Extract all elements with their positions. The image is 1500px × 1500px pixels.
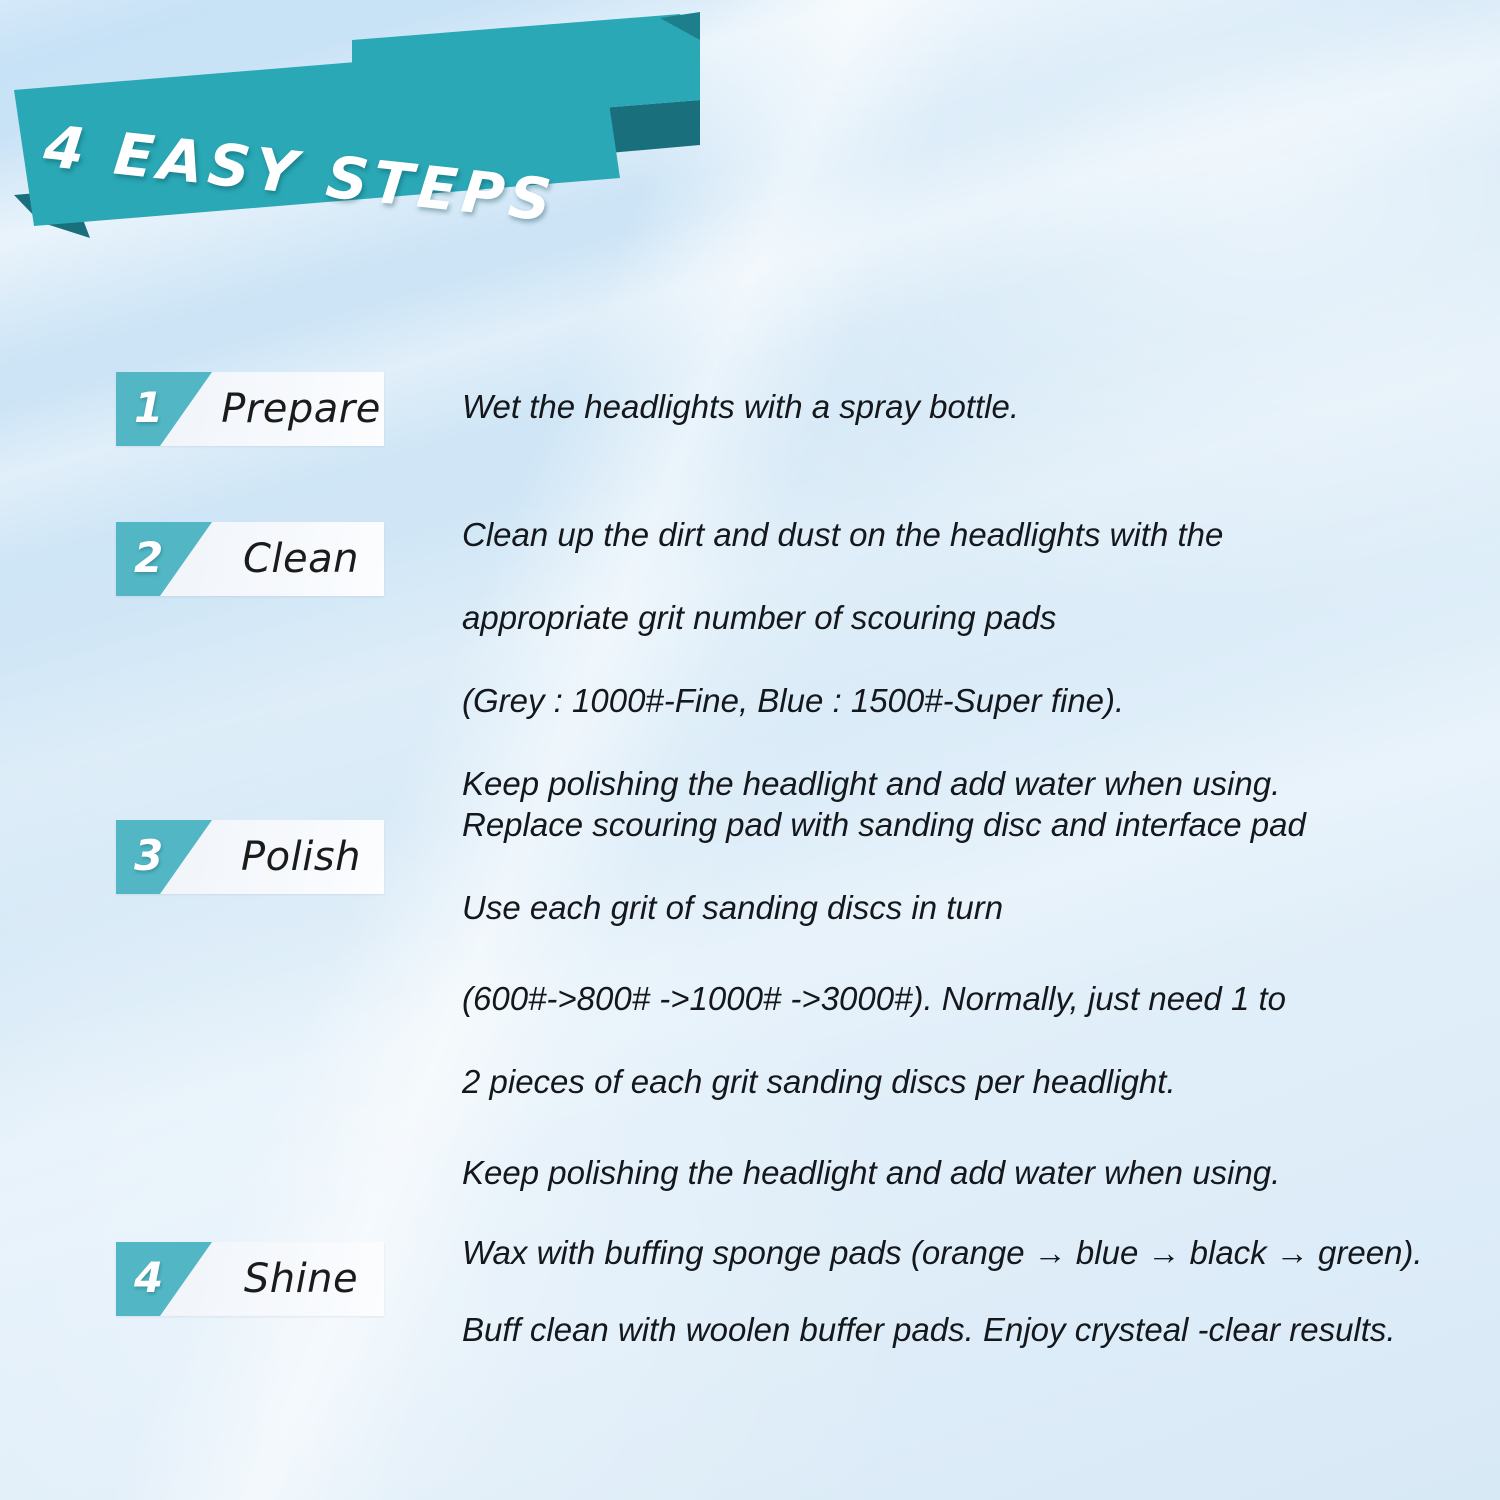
step-body-line: 2 pieces of each grit sanding discs per …	[462, 1065, 1462, 1098]
step-label-box-2[interactable]: 2 Clean	[116, 522, 384, 596]
step-number-shape-4	[116, 1242, 216, 1316]
step-number-3: 3	[134, 835, 163, 877]
step-body-line: Replace scouring pad with sanding disc a…	[462, 808, 1462, 841]
step-body-line: Clean up the dirt and dust on the headli…	[462, 518, 1462, 551]
step-body-4: Wax with buffing sponge pads (orange → b…	[462, 1236, 1462, 1346]
steps-list: 1 Prepare Wet the headlights with a spra…	[0, 0, 1500, 1500]
step-number-4: 4	[134, 1257, 163, 1299]
step-body-line: Wet the headlights with a spray bottle.	[462, 390, 1462, 423]
infographic-poster: 4 EASY STEPS 1 Prepare Wet the headlight…	[0, 0, 1500, 1500]
step-number-1: 1	[134, 387, 163, 429]
step-number-shape-1	[116, 372, 216, 446]
step-body-line: appropriate grit number of scouring pads	[462, 601, 1462, 634]
step-body-line: (Grey : 1000#-Fine, Blue : 1500#-Super f…	[462, 684, 1462, 717]
step-number-shape-2	[116, 522, 216, 596]
step-body-3: Replace scouring pad with sanding disc a…	[462, 808, 1462, 1189]
step-number-badge-1: 1	[116, 372, 216, 446]
step-number-badge-2: 2	[116, 522, 216, 596]
step-label-2: Clean	[216, 522, 376, 596]
step-number-2: 2	[134, 537, 163, 579]
step-number-badge-4: 4	[116, 1242, 216, 1316]
step-body-line: (600#->800# ->1000# ->3000#). Normally, …	[462, 982, 1462, 1015]
step-label-4: Shine	[216, 1242, 376, 1316]
step-label-box-1[interactable]: 1 Prepare	[116, 372, 384, 446]
step-body-line: Use each grit of sanding discs in turn	[462, 891, 1462, 924]
step-body-line: Wax with buffing sponge pads (orange → b…	[462, 1236, 1462, 1269]
step-body-line: Keep polishing the headlight and add wat…	[462, 767, 1462, 800]
step-label-1: Prepare	[216, 372, 376, 446]
step-body-line: Keep polishing the headlight and add wat…	[462, 1156, 1462, 1189]
step-body-1: Wet the headlights with a spray bottle.	[462, 390, 1462, 423]
step-number-badge-3: 3	[116, 820, 216, 894]
step-label-3: Polish	[216, 820, 376, 894]
step-label-box-3[interactable]: 3 Polish	[116, 820, 384, 894]
step-body-line: Buff clean with woolen buffer pads. Enjo…	[462, 1313, 1462, 1346]
step-label-box-4[interactable]: 4 Shine	[116, 1242, 384, 1316]
step-body-2: Clean up the dirt and dust on the headli…	[462, 518, 1462, 800]
step-number-shape-3	[116, 820, 216, 894]
